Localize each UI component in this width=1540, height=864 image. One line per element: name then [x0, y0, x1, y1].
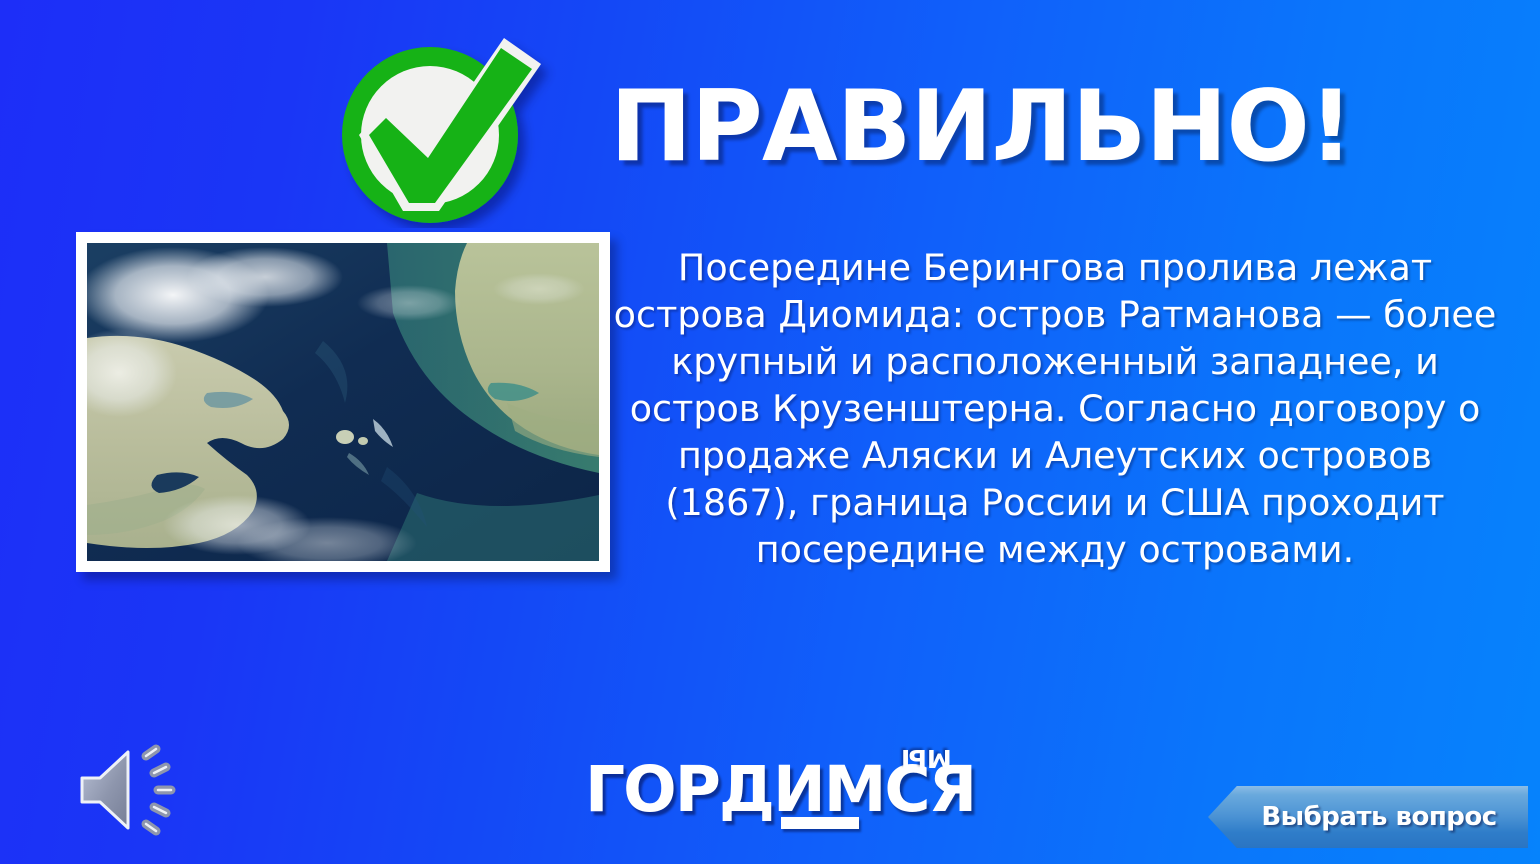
brand-logo: ГОРДИМСЯ МЫ — [585, 744, 965, 836]
brand-logo-underline — [781, 817, 859, 829]
speaker-icon[interactable] — [72, 740, 192, 840]
brand-logo-superscript: МЫ — [901, 746, 952, 771]
select-question-button[interactable]: Выбрать вопрос — [1208, 786, 1528, 848]
illustration-frame — [76, 232, 610, 572]
bering-strait-satellite-photo — [87, 243, 599, 561]
page-title: ПРАВИЛЬНО! — [610, 78, 1353, 176]
explanation-text: Посередине Берингова пролива лежат остро… — [610, 244, 1500, 573]
green-check-circle-icon — [327, 28, 557, 228]
quiz-feedback-slide: ПРАВИЛЬНО! — [0, 0, 1540, 864]
select-question-button-label: Выбрать вопрос — [1239, 802, 1496, 832]
